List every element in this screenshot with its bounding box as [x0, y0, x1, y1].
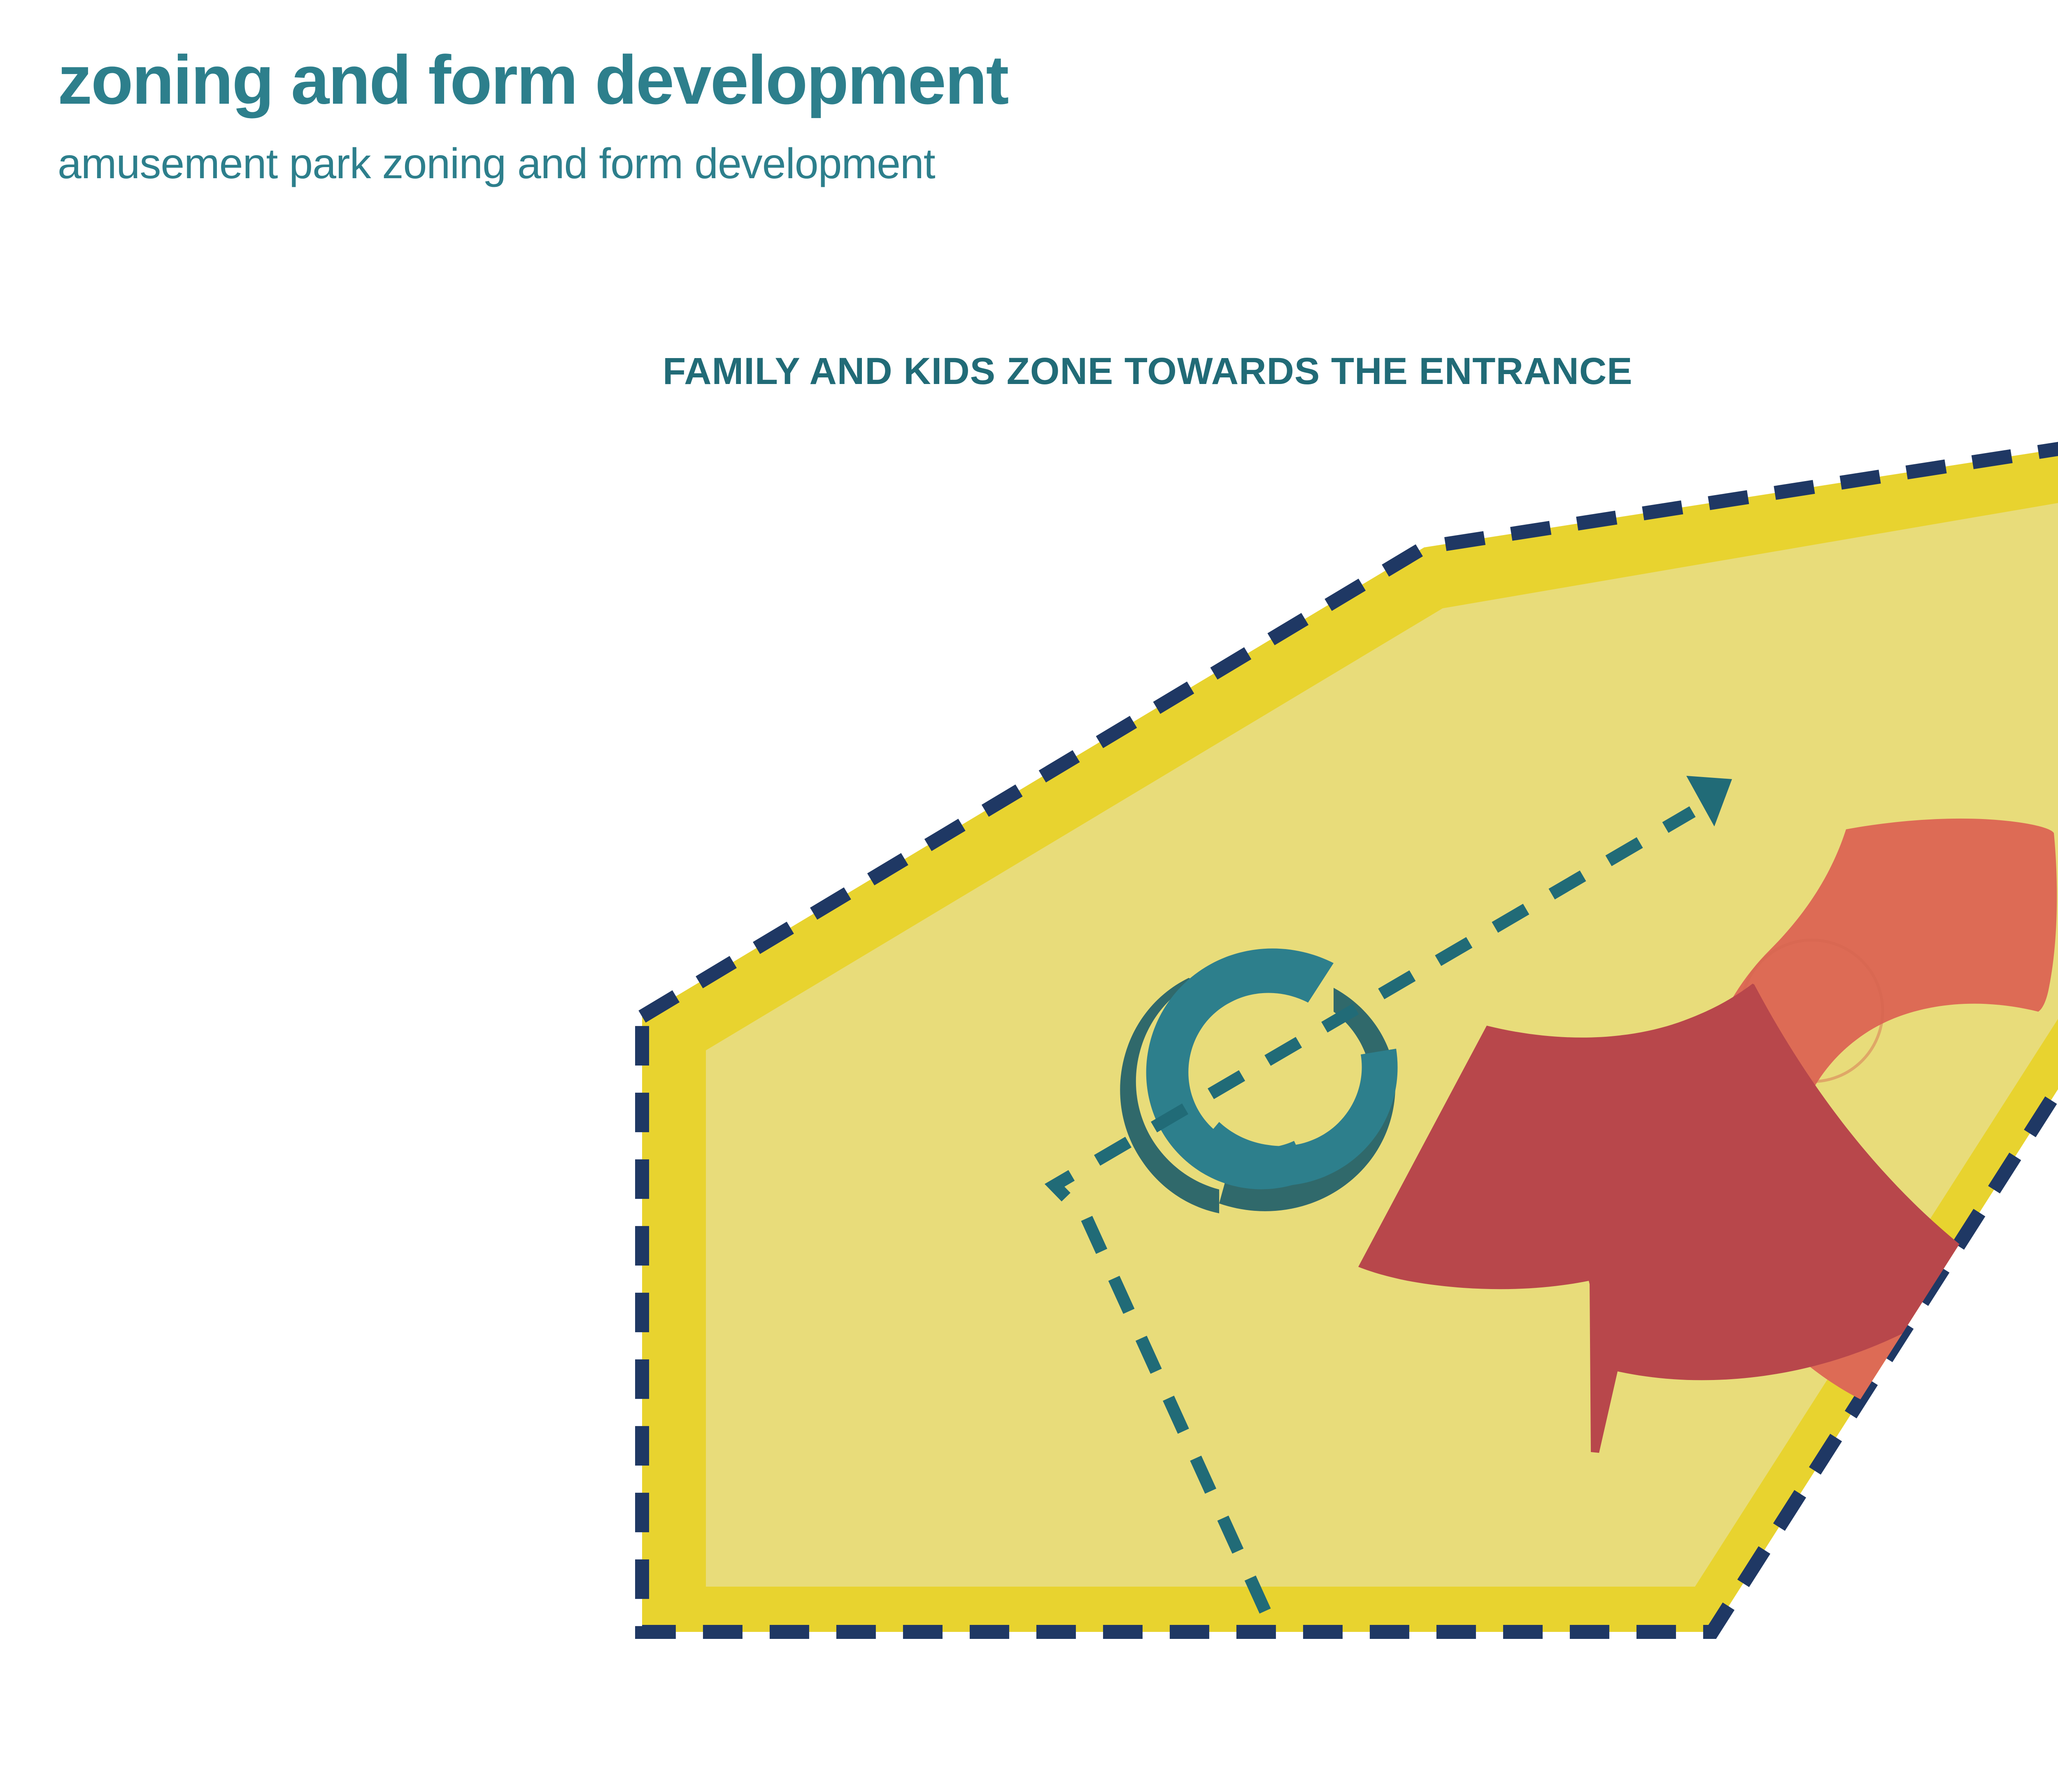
diagram-svg: [0, 0, 2058, 1792]
zone-annotation-label: FAMILY AND KIDS ZONE TOWARDS THE ENTRANC…: [663, 350, 1633, 393]
zoning-diagram: [0, 0, 2058, 1792]
slide-canvas: zoning and form development amusement pa…: [0, 0, 2058, 1792]
